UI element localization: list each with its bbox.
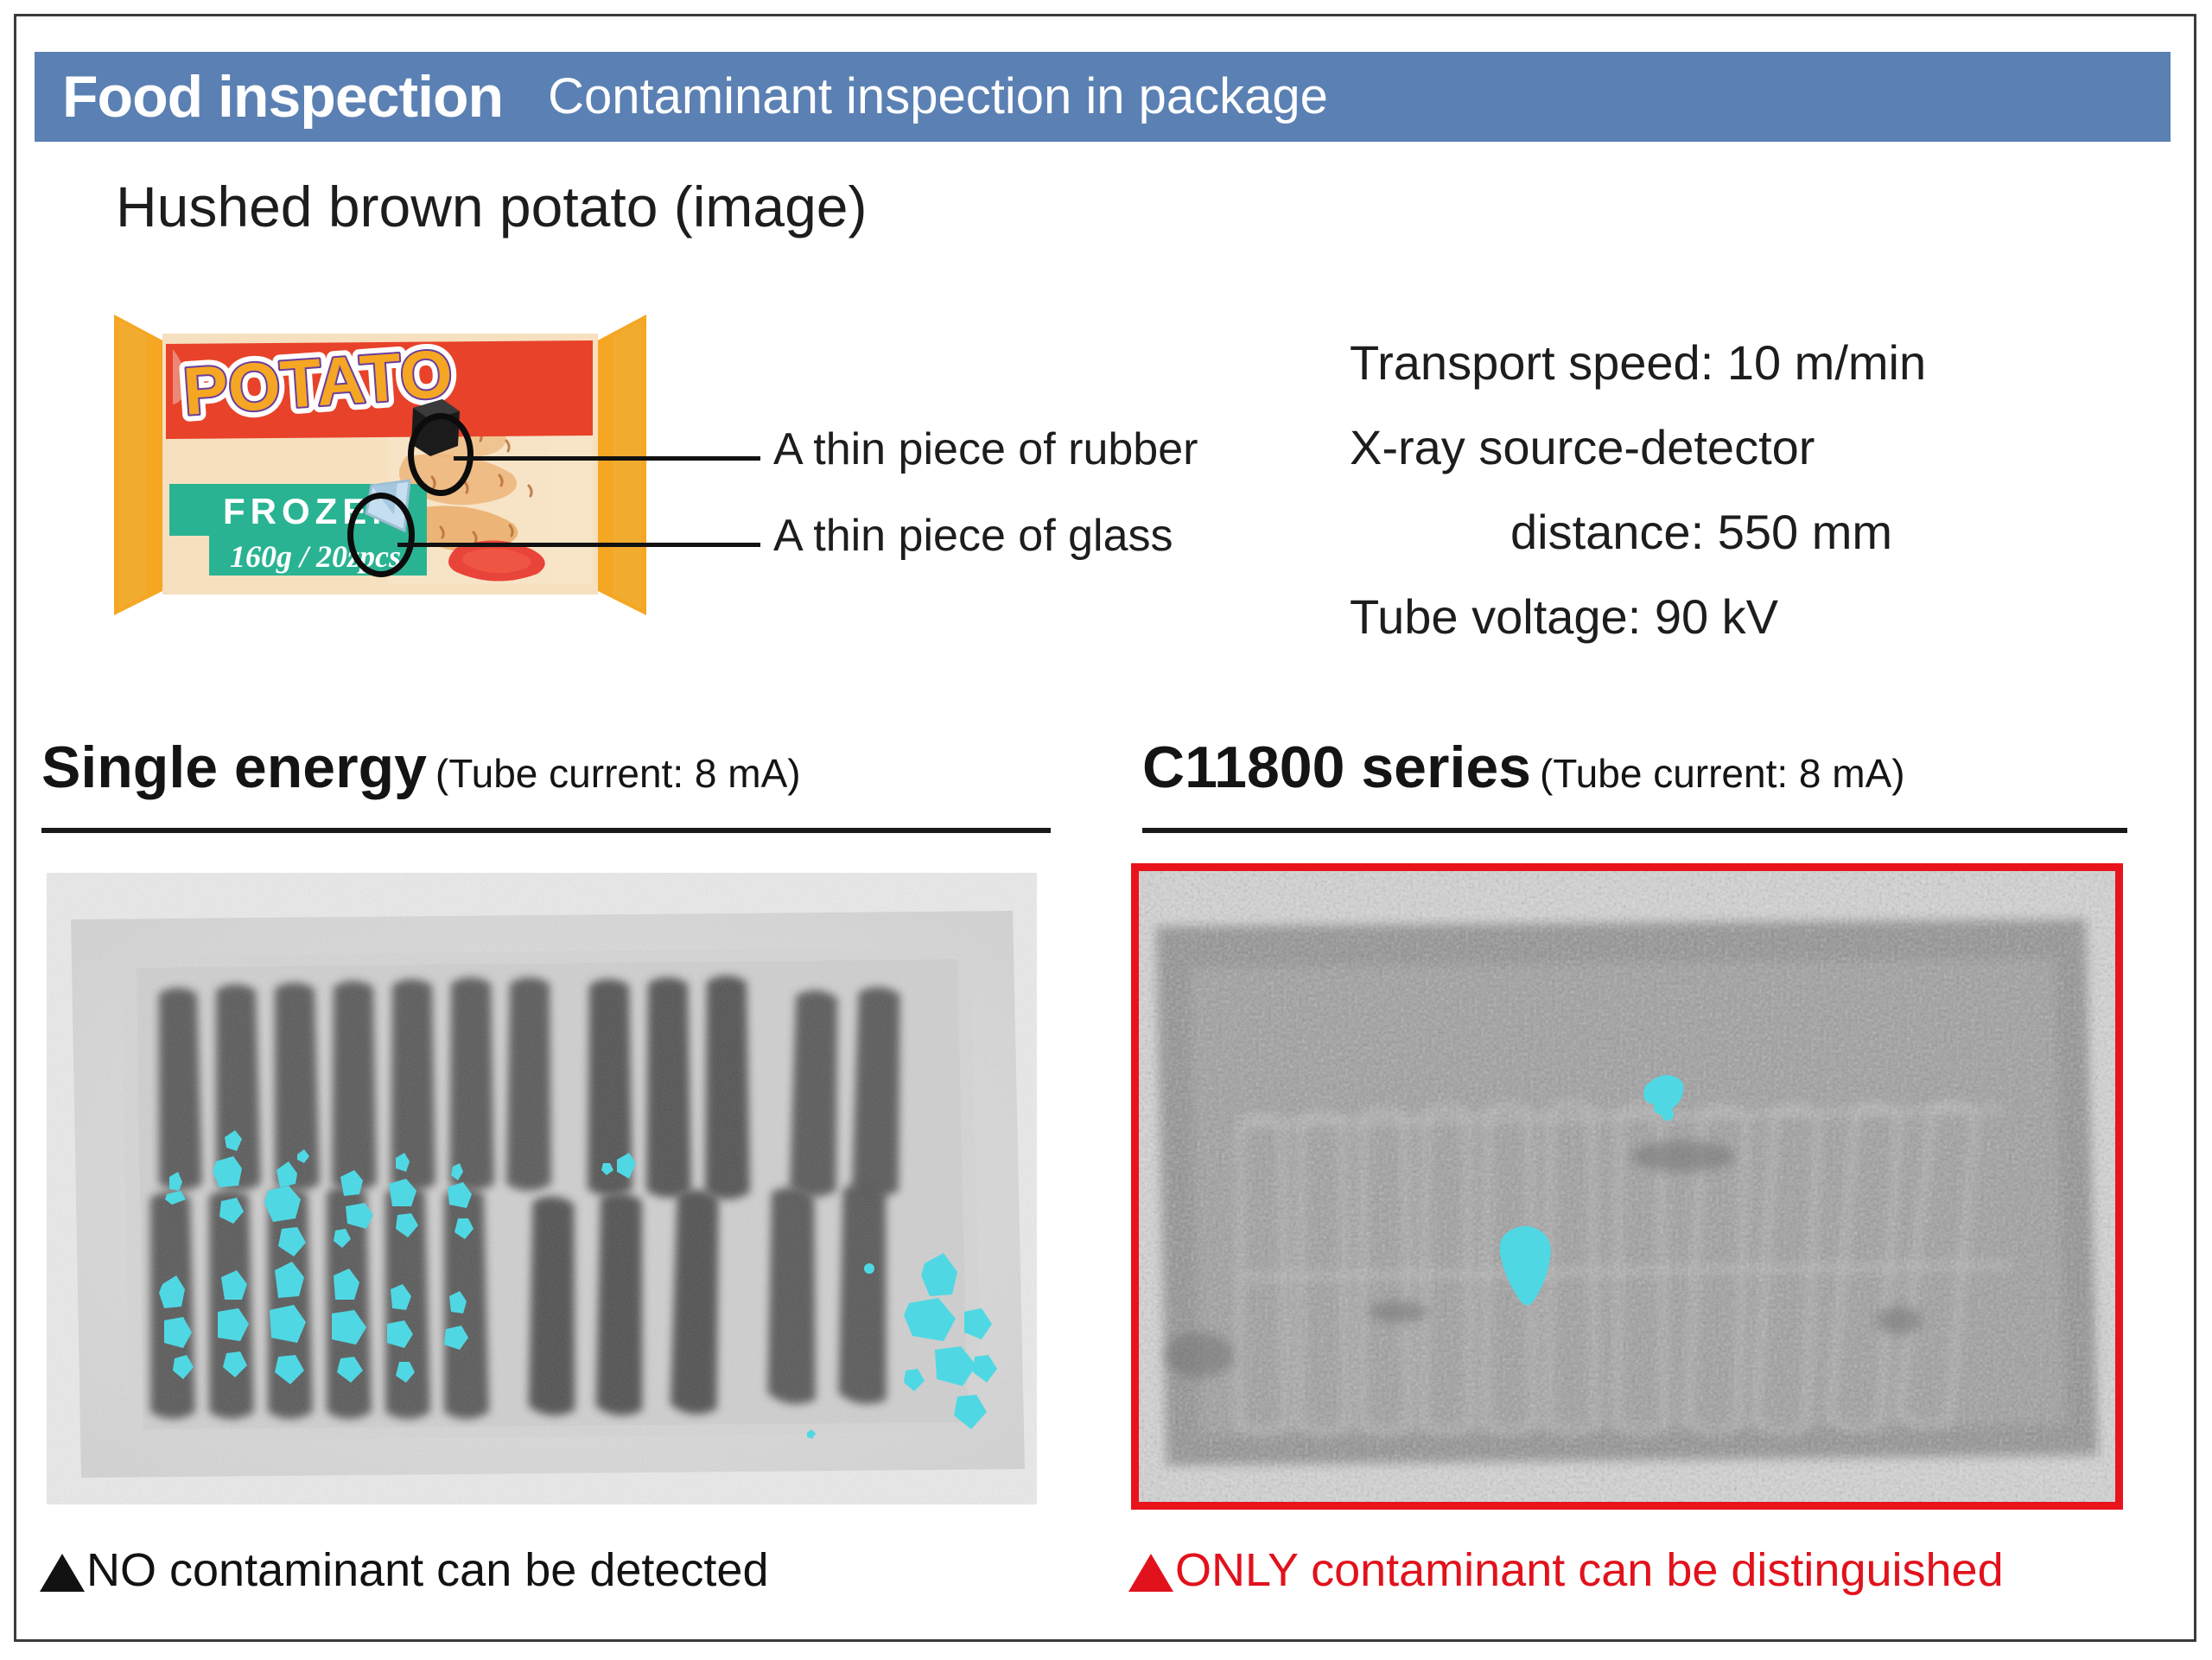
- panel-heading-main-left: Single energy: [41, 735, 427, 800]
- leader-line-rubber: [454, 456, 760, 461]
- header-subtitle: Contaminant inspection in package: [548, 72, 1328, 122]
- result-caption-right-text: ONLY contaminant can be distinguished: [1175, 1547, 2004, 1593]
- inspection-parameters: Transport speed: 10 m/min X-ray source-d…: [1350, 339, 2179, 677]
- page-title: Hushed brown potato (image): [116, 178, 867, 235]
- xray-right-svg: [1139, 871, 2115, 1502]
- xray-image-c11800[interactable]: [1131, 863, 2123, 1510]
- parameter-distance: distance: 550 mm: [1350, 508, 2179, 557]
- xray-image-single-energy[interactable]: [47, 873, 1037, 1504]
- callout-label-rubber: A thin piece of rubber: [773, 427, 1198, 472]
- triangle-bullet-icon-right: [1128, 1554, 1173, 1592]
- parameter-transport-speed: Transport speed: 10 m/min: [1350, 339, 2179, 387]
- panel-heading-sub-right: (Tube current: 8 mA): [1540, 751, 1905, 796]
- header-banner: Food inspection Contaminant inspection i…: [35, 52, 2171, 142]
- xray-left-svg: [47, 873, 1037, 1504]
- panel-rule-left: [41, 828, 1051, 833]
- panel-heading-main-right: C11800 series: [1142, 735, 1531, 800]
- callout-label-glass: A thin piece of glass: [773, 513, 1173, 558]
- result-caption-left-text: NO contaminant can be detected: [86, 1547, 769, 1593]
- panel-heading-c11800: C11800 series(Tube current: 8 mA): [1142, 738, 1905, 797]
- panel-heading-sub-left: (Tube current: 8 mA): [435, 751, 801, 796]
- result-caption-left: NO contaminant can be detected: [40, 1547, 769, 1593]
- parameter-tube-voltage: Tube voltage: 90 kV: [1350, 593, 2179, 641]
- panel-rule-right: [1142, 828, 2127, 833]
- circle-marker-rubber: [408, 413, 474, 496]
- triangle-bullet-icon-left: [40, 1554, 85, 1592]
- slide-page: Food inspection Contaminant inspection i…: [0, 0, 2212, 1660]
- result-caption-right: ONLY contaminant can be distinguished: [1128, 1547, 2004, 1593]
- panel-heading-single-energy: Single energy(Tube current: 8 mA): [41, 738, 801, 797]
- parameter-source-detector: X-ray source-detector: [1350, 423, 2179, 472]
- leader-line-glass: [397, 543, 760, 547]
- header-title: Food inspection: [62, 67, 503, 126]
- circle-marker-glass: [347, 493, 415, 577]
